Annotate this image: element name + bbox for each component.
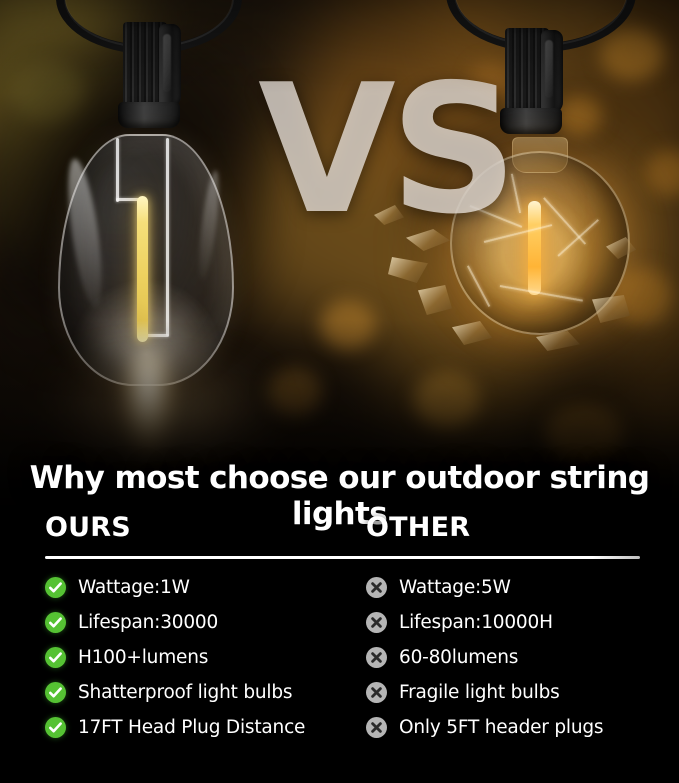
column-headers: OURS OTHER — [0, 512, 679, 550]
list-item-label: Lifespan:30000 — [78, 612, 218, 633]
check-circle-icon — [45, 577, 66, 598]
list-item: Lifespan:10000H — [366, 605, 666, 640]
cross-circle-icon — [366, 577, 387, 598]
list-item: Shatterproof light bulbs — [45, 675, 365, 710]
feature-list-ours: Wattage:1W Lifespan:30000 H100+lumens — [45, 570, 365, 745]
cross-circle-icon — [366, 717, 387, 738]
list-item: 17FT Head Plug Distance — [45, 710, 365, 745]
list-item-label: Lifespan:10000H — [399, 612, 553, 633]
list-item-label: 60-80lumens — [399, 647, 518, 668]
check-circle-icon — [45, 717, 66, 738]
check-circle-icon — [45, 647, 66, 668]
list-item: Wattage:5W — [366, 570, 666, 605]
check-circle-icon — [45, 612, 66, 633]
list-item-label: Wattage:1W — [78, 577, 190, 598]
product-comparison-image: VS Why most choose our outdoor string li… — [0, 0, 679, 783]
list-item-label: Fragile light bulbs — [399, 682, 560, 703]
list-item: H100+lumens — [45, 640, 365, 675]
list-item-label: Only 5FT header plugs — [399, 717, 603, 738]
column-header-ours: OURS — [45, 512, 131, 543]
header-divider — [45, 556, 640, 559]
list-item-label: 17FT Head Plug Distance — [78, 717, 305, 738]
list-item-label: H100+lumens — [78, 647, 208, 668]
cross-circle-icon — [366, 612, 387, 633]
list-item: Wattage:1W — [45, 570, 365, 605]
list-item: 60-80lumens — [366, 640, 666, 675]
cross-circle-icon — [366, 682, 387, 703]
cross-circle-icon — [366, 647, 387, 668]
list-item: Fragile light bulbs — [366, 675, 666, 710]
list-item: Only 5FT header plugs — [366, 710, 666, 745]
check-circle-icon — [45, 682, 66, 703]
feature-list-other: Wattage:5W Lifespan:10000H 60-80lumens — [366, 570, 666, 745]
list-item-label: Wattage:5W — [399, 577, 511, 598]
list-item: Lifespan:30000 — [45, 605, 365, 640]
comparison-section: Why most choose our outdoor string light… — [0, 430, 679, 783]
column-header-other: OTHER — [366, 512, 470, 543]
list-item-label: Shatterproof light bulbs — [78, 682, 292, 703]
